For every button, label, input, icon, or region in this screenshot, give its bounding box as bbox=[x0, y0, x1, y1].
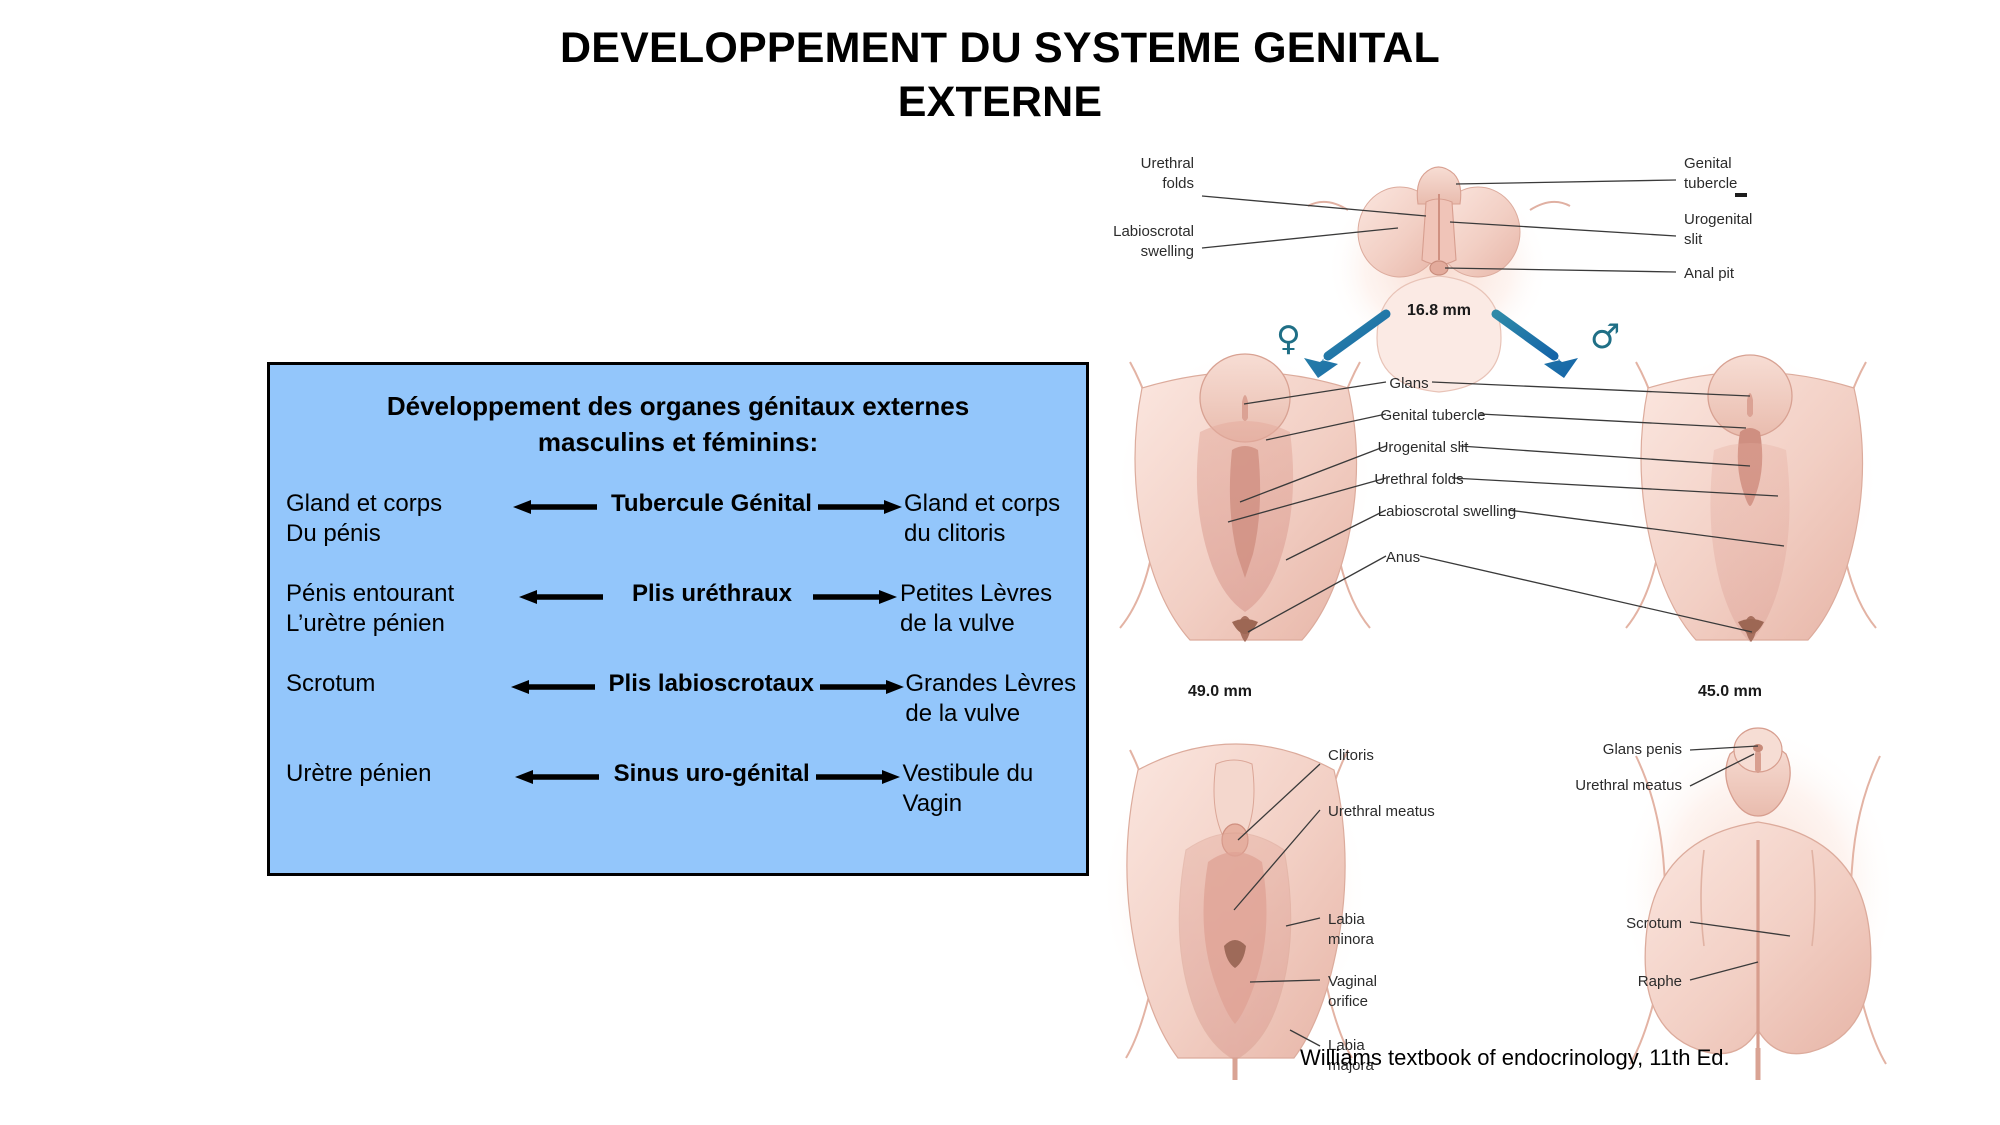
precursor-structure: Plis uréthraux bbox=[614, 579, 810, 609]
precursor-structure: Sinus uro-génital bbox=[610, 759, 814, 789]
label-urogenital-slit-line-1: Urogenital bbox=[1684, 211, 1752, 228]
label-raphe: Raphe bbox=[1638, 973, 1682, 990]
female-derivative-line-2: de la vulve bbox=[905, 699, 1086, 729]
page-title-line-1: DEVELOPPEMENT DU SYSTEME GENITAL bbox=[0, 22, 2000, 76]
label-genital-tubercle: Genital tubercle bbox=[1380, 407, 1485, 424]
female-derivative: Gland et corps du clitoris bbox=[904, 489, 1086, 549]
precursor-structure: Tubercule Génital bbox=[607, 489, 816, 519]
page-title: DEVELOPPEMENT DU SYSTEME GENITAL EXTERNE bbox=[0, 22, 2000, 130]
female-derivative: Grandes Lèvres de la vulve bbox=[905, 669, 1086, 729]
label-anus: Anus bbox=[1386, 549, 1420, 566]
label-genital-tubercle-line-1: Genital bbox=[1684, 155, 1732, 172]
female-symbol-icon: ♀ bbox=[1276, 319, 1301, 359]
male-symbol-icon: ♂ bbox=[1590, 317, 1620, 357]
label-urogenital-slit-line-2: slit bbox=[1684, 231, 1703, 248]
slide-root: DEVELOPPEMENT DU SYSTEME GENITAL EXTERNE… bbox=[0, 0, 2000, 1125]
male-derivative-line-1: Gland et corps bbox=[286, 489, 503, 519]
derivation-row: Gland et corps Du pénis Tubercule Génita… bbox=[270, 489, 1086, 561]
female-derivative-line-2: de la vulve bbox=[900, 609, 1086, 639]
male-derivative-line-1: Pénis entourant bbox=[286, 579, 508, 609]
label-urethral-folds-line-2: folds bbox=[1162, 175, 1194, 192]
female-derivative-line-1: Gland et corps bbox=[904, 489, 1086, 519]
page-title-line-2: EXTERNE bbox=[0, 76, 2000, 130]
female-derivative-line-2: du clitoris bbox=[904, 519, 1086, 549]
embryology-figure: Urethral folds Labioscrotal swelling Gen… bbox=[1090, 150, 1970, 1080]
stray-mark bbox=[1735, 193, 1747, 197]
development-summary-panel: Développement des organes génitaux exter… bbox=[267, 362, 1089, 876]
arrow-left-icon bbox=[502, 669, 605, 696]
female-derivative: Vestibule du Vagin bbox=[902, 759, 1086, 819]
derivation-row: Pénis entourant L’urètre pénien Plis uré… bbox=[270, 579, 1086, 651]
label-glans: Glans bbox=[1389, 375, 1428, 392]
label-anal-pit: Anal pit bbox=[1684, 265, 1735, 282]
label-labioscrotal-swelling-line-1: Labioscrotal bbox=[1113, 223, 1194, 240]
label-labia-minora-line-1: Labia bbox=[1328, 911, 1365, 928]
differentiating-stage-illustration: 49.0 mm 45.0 mm Gla bbox=[1115, 350, 1880, 700]
panel-heading: Développement des organes génitaux exter… bbox=[310, 389, 1046, 461]
female-derivative-line-1: Petites Lèvres bbox=[900, 579, 1086, 609]
label-clitoris: Clitoris bbox=[1328, 747, 1374, 764]
label-labia-minora-line-2: minora bbox=[1328, 931, 1375, 948]
female-derivative-line-2: Vagin bbox=[902, 789, 1086, 819]
label-urethral-meatus: Urethral meatus bbox=[1328, 803, 1435, 820]
precursor-structure: Plis labioscrotaux bbox=[605, 669, 818, 699]
label-urogenital-slit: Urogenital slit bbox=[1378, 439, 1470, 456]
divergence-arrow-male-icon bbox=[1496, 314, 1578, 378]
label-genital-tubercle-line-2: tubercle bbox=[1684, 175, 1737, 192]
dimension-male-differentiating: 45.0 mm bbox=[1698, 683, 1762, 700]
arrow-left-icon bbox=[505, 759, 610, 786]
panel-heading-line-2: masculins et féminins: bbox=[310, 425, 1046, 461]
arrow-right-icon bbox=[818, 669, 905, 696]
label-urethral-folds: Urethral folds bbox=[1374, 471, 1463, 488]
male-derivative-line-1: Urètre pénien bbox=[286, 759, 505, 789]
male-derivative: Urètre pénien bbox=[270, 759, 505, 789]
female-derivative-line-1: Grandes Lèvres bbox=[905, 669, 1086, 699]
male-derivative: Gland et corps Du pénis bbox=[270, 489, 503, 549]
label-urethral-folds-line-1: Urethral bbox=[1141, 155, 1194, 172]
arrow-right-icon bbox=[814, 759, 903, 786]
derivation-rows: Gland et corps Du pénis Tubercule Génita… bbox=[270, 489, 1086, 831]
male-derivative-line-1: Scrotum bbox=[286, 669, 502, 699]
mature-stage-illustration: Clitoris Urethral meatus Labia minora Va… bbox=[1100, 725, 1898, 1080]
arrow-right-icon bbox=[816, 489, 904, 516]
label-glans-penis: Glans penis bbox=[1603, 741, 1682, 758]
derivation-row: Urètre pénien Sinus uro-génital Vestibul… bbox=[270, 759, 1086, 831]
label-urethral-meatus-male: Urethral meatus bbox=[1575, 777, 1682, 794]
male-derivative: Pénis entourant L’urètre pénien bbox=[270, 579, 508, 639]
male-derivative-line-2: L’urètre pénien bbox=[286, 609, 508, 639]
label-vaginal-orifice-line-1: Vaginal bbox=[1328, 973, 1377, 990]
arrow-right-icon bbox=[810, 579, 900, 606]
male-derivative-line-2: Du pénis bbox=[286, 519, 503, 549]
label-labioscrotal-swelling: Labioscrotal swelling bbox=[1378, 503, 1516, 520]
female-derivative-line-1: Vestibule du bbox=[902, 759, 1086, 789]
dimension-indifferent-stage: 16.8 mm bbox=[1407, 302, 1471, 319]
panel-heading-line-1: Développement des organes génitaux exter… bbox=[310, 389, 1046, 425]
arrow-left-icon bbox=[508, 579, 614, 606]
derivation-row: Scrotum Plis labioscrotaux Grandes Lèvre… bbox=[270, 669, 1086, 741]
arrow-left-icon bbox=[503, 489, 607, 516]
male-derivative: Scrotum bbox=[270, 669, 502, 699]
source-citation: Williams textbook of endocrinology, 11th… bbox=[1300, 1045, 1920, 1071]
label-labioscrotal-swelling-line-2: swelling bbox=[1141, 243, 1194, 260]
dimension-female-differentiating: 49.0 mm bbox=[1188, 683, 1252, 700]
label-scrotum: Scrotum bbox=[1626, 915, 1682, 932]
female-derivative: Petites Lèvres de la vulve bbox=[900, 579, 1086, 639]
label-vaginal-orifice-line-2: orifice bbox=[1328, 993, 1368, 1010]
